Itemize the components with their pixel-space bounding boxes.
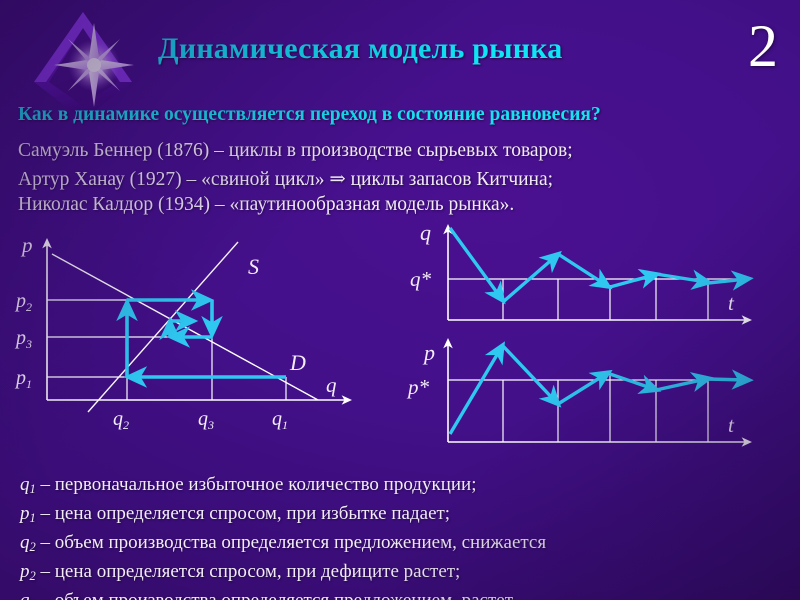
quantity-series xyxy=(450,228,746,302)
cobweb-ytick-p1: p1 xyxy=(14,367,32,391)
quantity-equilibrium-label: q* xyxy=(410,267,432,291)
list-item: q1 – первоначальное избыточное количеств… xyxy=(20,474,476,497)
cobweb-xtick-q1: q1 xyxy=(272,408,288,432)
supply-curve xyxy=(88,242,238,412)
cobweb-axis-label-q: q xyxy=(326,373,337,397)
quantity-axis-label-t: t xyxy=(728,291,735,315)
bullet-text: – объем производства определяется предло… xyxy=(36,532,546,553)
price-axis-label-t: t xyxy=(728,413,735,437)
list-item: p2 – цена определяется спросом, при дефи… xyxy=(20,561,460,584)
list-item: q2 – объем производства определяется пре… xyxy=(20,532,546,555)
list-item: p1 – цена определяется спросом, при избы… xyxy=(20,503,450,526)
bullet-var: p xyxy=(20,503,30,524)
price-series xyxy=(450,346,746,434)
price-equilibrium-label: p* xyxy=(406,375,430,399)
bullet-var: q xyxy=(20,590,30,600)
bullet-var: q xyxy=(20,474,30,495)
bullet-text: – цена определяется спросом, при избытке… xyxy=(36,503,450,524)
slide-canvas: Динамическая модель рынка 2 Как в динами… xyxy=(0,0,800,600)
bullet-var: q xyxy=(20,532,30,553)
bullet-text: – объем производства определяется предло… xyxy=(36,590,517,600)
demand-curve-label: D xyxy=(289,350,306,375)
intro-line-3: Николас Калдор (1934) – «паутинообразная… xyxy=(18,194,514,216)
cobweb-ytick-p3: p3 xyxy=(14,327,32,351)
price-axis-label-p: p xyxy=(422,340,435,365)
cobweb-axis-label-p: p xyxy=(20,233,33,257)
quantity-axis-label-q: q xyxy=(420,222,431,245)
supply-curve-label: S xyxy=(248,254,259,279)
time-series-charts: q q* t p xyxy=(398,222,798,462)
cobweb-ytick-p2: p2 xyxy=(14,290,32,314)
cobweb-diagram: p q S D p2 p3 p1 q2 q3 xyxy=(0,222,390,442)
price-chart: p p* t xyxy=(406,340,748,442)
slide-number: 2 xyxy=(748,16,778,76)
section-question: Как в динамике осуществляется переход в … xyxy=(18,104,601,126)
bullet-text: – первоначальное избыточное количество п… xyxy=(36,474,477,495)
intro-line-2: Артур Ханау (1927) – «свиной цикл» ⇒ цик… xyxy=(18,167,553,191)
intro-line-1: Самуэль Беннер (1876) – циклы в производ… xyxy=(18,140,573,162)
cobweb-xtick-q2: q2 xyxy=(113,408,129,432)
page-title: Динамическая модель рынка xyxy=(158,32,698,66)
cobweb-gridlines xyxy=(47,300,286,400)
list-item: q3 – объем производства определяется пре… xyxy=(20,590,516,600)
quantity-chart: q q* t xyxy=(410,222,748,320)
cobweb-xtick-q3: q3 xyxy=(198,408,214,432)
cobweb-path xyxy=(127,300,286,377)
bullet-var: p xyxy=(20,561,30,582)
bullet-text: – цена определяется спросом, при дефицит… xyxy=(36,561,461,582)
